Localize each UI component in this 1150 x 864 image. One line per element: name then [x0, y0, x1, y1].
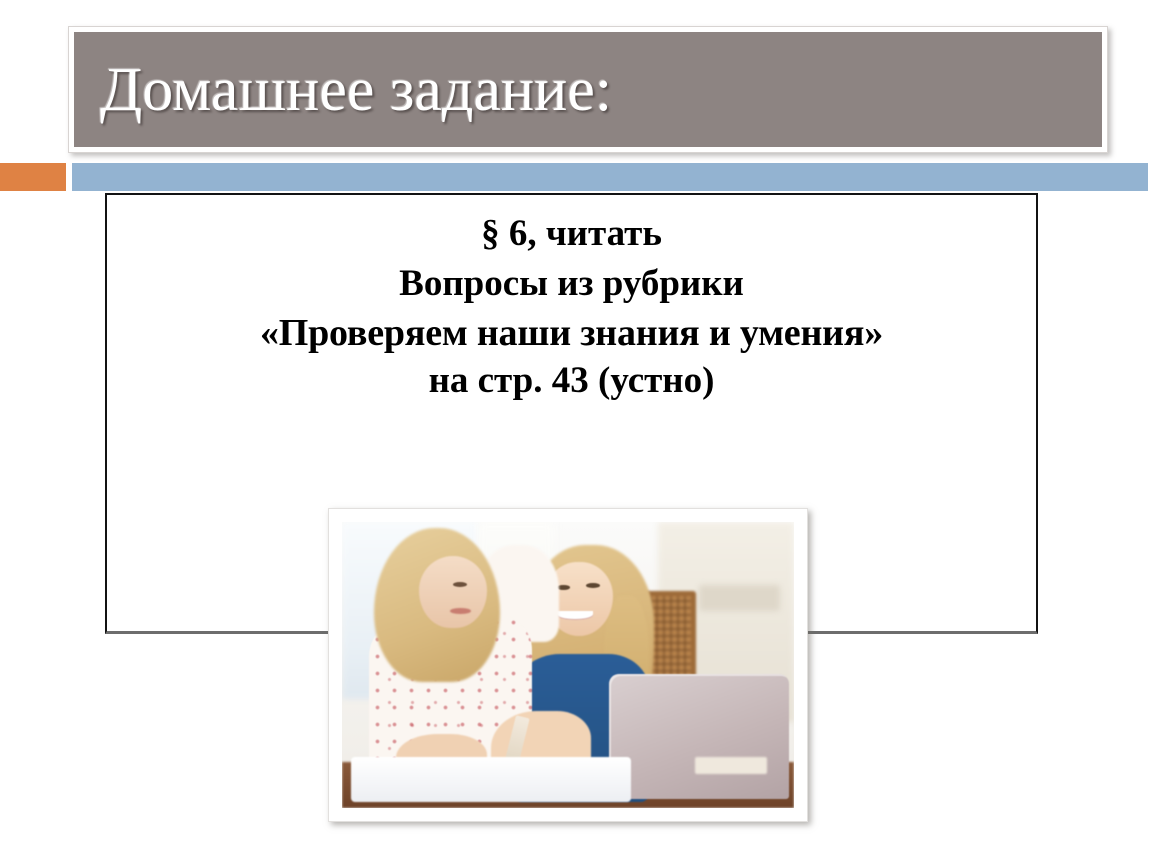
- photo-frame: [328, 508, 808, 822]
- page-title: Домашнее задание:: [100, 59, 612, 121]
- assignment-line-2: Вопросы из рубрики: [107, 259, 1036, 309]
- assignment-line-1: § 6, читать: [107, 209, 1036, 259]
- photo-woman-lips: [450, 608, 470, 614]
- assignment-line-4: на стр. 43 (устно): [107, 359, 1036, 403]
- photo-papers: [351, 757, 631, 803]
- homework-photo: [342, 522, 794, 808]
- title-banner: Домашнее задание:: [74, 32, 1102, 147]
- assignment-text-block: § 6, читать Вопросы из рубрики «Проверяе…: [107, 195, 1036, 403]
- photo-girl-eye-right: [586, 583, 600, 588]
- photo-laptop: [609, 674, 790, 800]
- assignment-line-3: «Проверяем наши знания и умения»: [107, 308, 1036, 359]
- photo-book: [695, 757, 767, 774]
- title-banner-frame: Домашнее задание:: [68, 26, 1108, 153]
- photo-woman-face: [419, 556, 487, 628]
- accent-bar-orange: [0, 163, 66, 191]
- photo-shelf: [699, 585, 780, 611]
- accent-bar-blue: [72, 163, 1148, 191]
